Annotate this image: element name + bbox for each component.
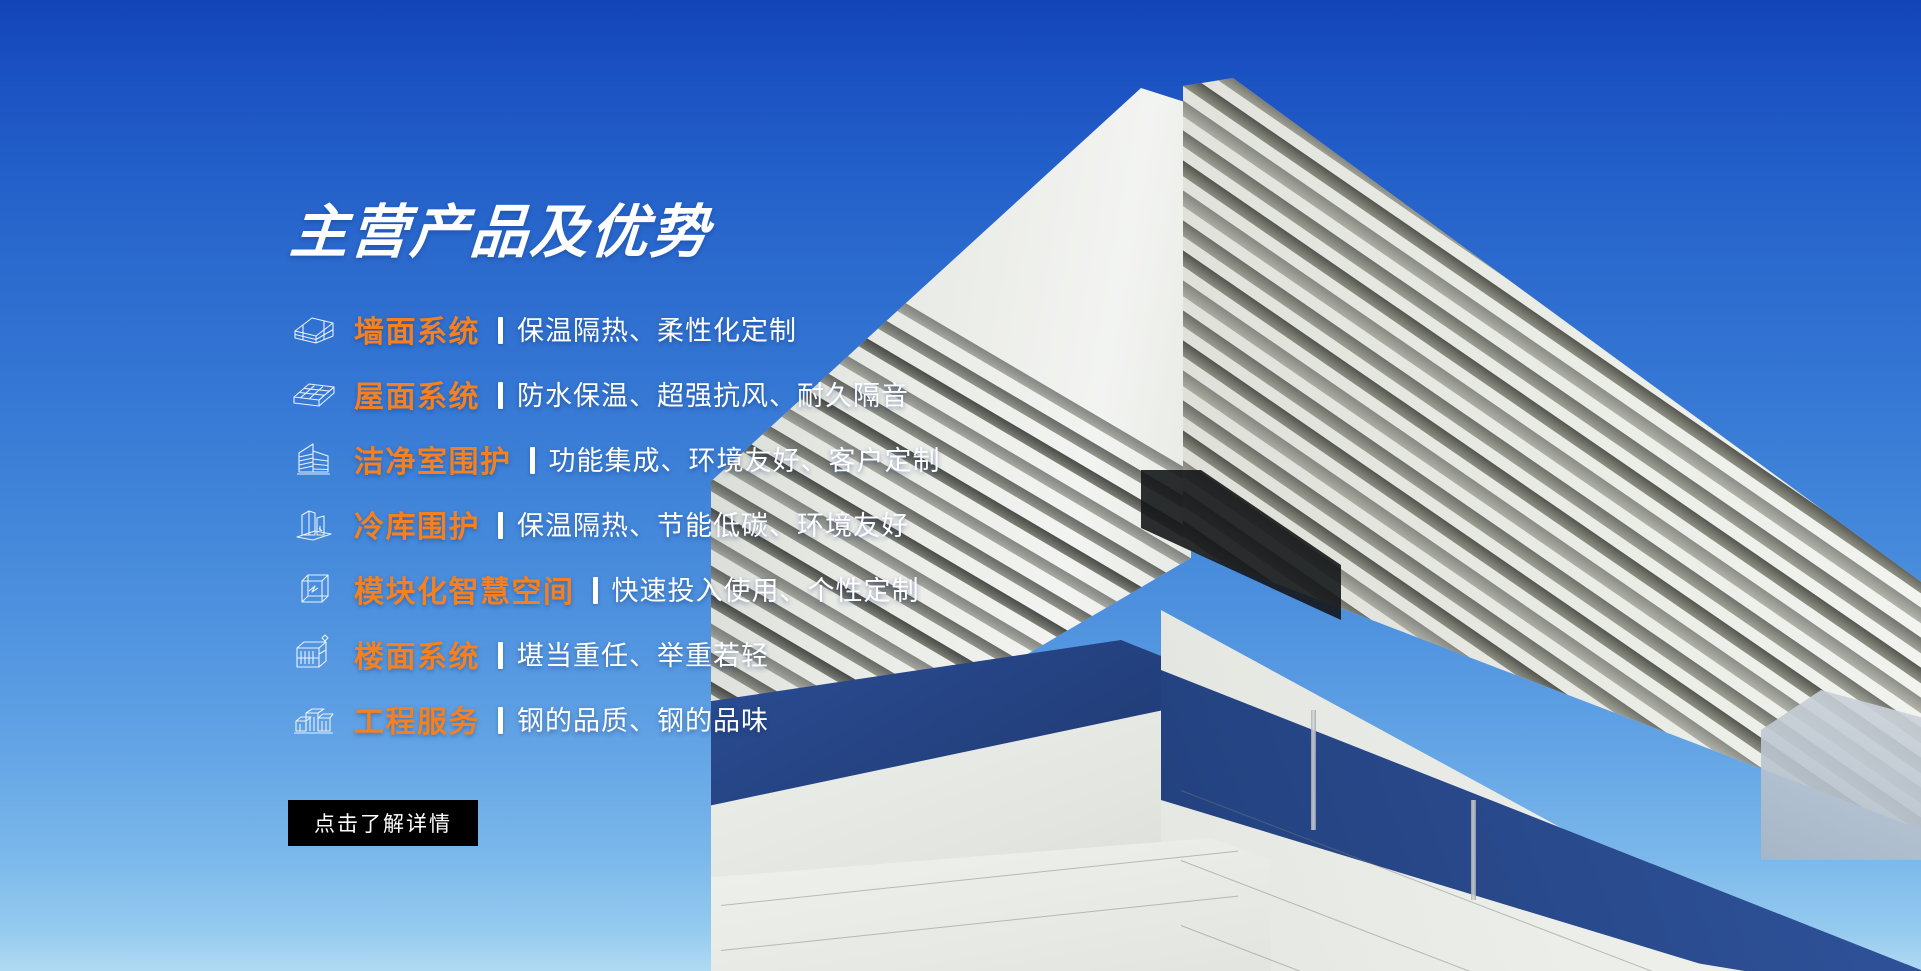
- background-building: [1761, 690, 1921, 860]
- row-separator: [498, 382, 503, 409]
- product-row-modular-smart-space[interactable]: 模块化智慧空间 快速投入使用、个性定制: [288, 556, 1088, 621]
- product-row-cleanroom-envelope[interactable]: 洁净室围护 功能集成、环境友好、客户定制: [288, 426, 1088, 491]
- wall-panel-icon: [288, 307, 340, 351]
- product-name: 工程服务: [354, 697, 480, 741]
- product-advantage-banner: 主营产品及优势 墙面系统 保温隔热、柔性化定制: [0, 0, 1921, 971]
- row-separator: [498, 707, 503, 734]
- product-row-engineering-service[interactable]: 工程服务 钢的品质、钢的品味: [288, 686, 1088, 751]
- product-name: 屋面系统: [354, 372, 480, 416]
- row-separator: [498, 317, 503, 344]
- row-separator: [593, 577, 598, 604]
- product-name: 洁净室围护: [354, 437, 512, 481]
- product-desc: 钢的品质、钢的品味: [517, 699, 769, 738]
- cold-storage-icon: [288, 502, 340, 546]
- product-name: 模块化智慧空间: [354, 567, 575, 611]
- product-name: 墙面系统: [354, 307, 480, 351]
- row-separator: [498, 642, 503, 669]
- cleanroom-building-icon: [288, 437, 340, 481]
- product-row-wall-system[interactable]: 墙面系统 保温隔热、柔性化定制: [288, 296, 1088, 361]
- product-desc: 防水保温、超强抗风、耐久隔音: [517, 374, 909, 413]
- product-row-cold-storage-envelope[interactable]: 冷库围护 保温隔热、节能低碳、环境友好: [288, 491, 1088, 556]
- banner-content: 主营产品及优势 墙面系统 保温隔热、柔性化定制: [0, 0, 1100, 971]
- floor-system-icon: [288, 632, 340, 676]
- product-desc: 保温隔热、柔性化定制: [517, 309, 797, 348]
- page-title: 主营产品及优势: [288, 204, 712, 262]
- product-row-roof-system[interactable]: 屋面系统 防水保温、超强抗风、耐久隔音: [288, 361, 1088, 426]
- roof-slab-icon: [288, 372, 340, 416]
- product-row-floor-system[interactable]: 楼面系统 堪当重任、举重若轻: [288, 621, 1088, 686]
- product-list: 墙面系统 保温隔热、柔性化定制 屋面系统: [288, 296, 1088, 751]
- learn-more-button[interactable]: 点击了解详情: [288, 800, 478, 846]
- product-name: 冷库围护: [354, 502, 480, 546]
- product-desc: 快速投入使用、个性定制: [612, 569, 920, 608]
- modular-cube-icon: [288, 567, 340, 611]
- product-desc: 保温隔热、节能低碳、环境友好: [517, 504, 909, 543]
- engineering-service-icon: [288, 697, 340, 741]
- row-separator: [498, 512, 503, 539]
- product-desc: 功能集成、环境友好、客户定制: [549, 439, 941, 478]
- row-separator: [530, 447, 535, 474]
- product-desc: 堪当重任、举重若轻: [517, 634, 769, 673]
- product-name: 楼面系统: [354, 632, 480, 676]
